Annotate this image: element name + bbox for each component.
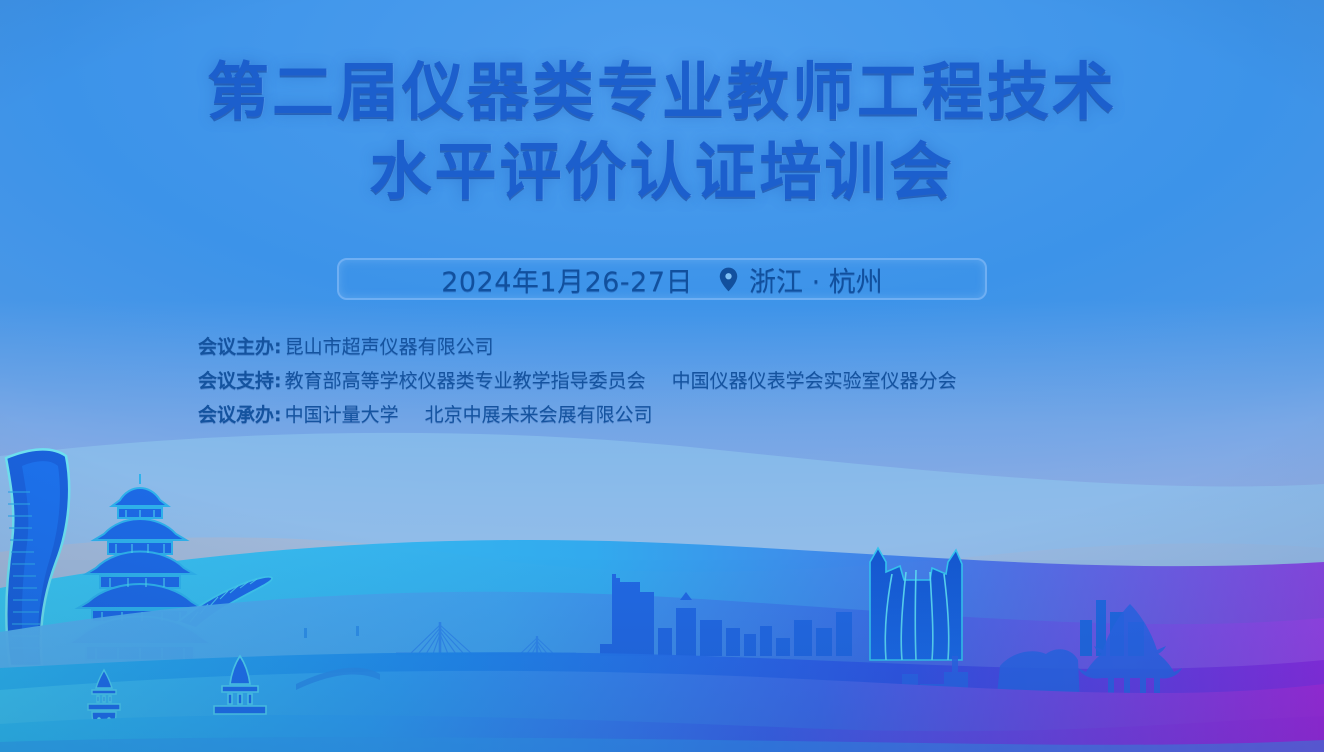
conference-backdrop-photo: 第二届仪器类专业教师工程技术 水平评价认证培训会 2024年1月26-27日 浙… xyxy=(0,0,1324,752)
credit-value: 教育部高等学校仪器类专业教学指导委员会 xyxy=(285,368,646,395)
event-date: 2024年1月26-27日 xyxy=(441,260,693,299)
date-location-pill: 2024年1月26-27日 浙江 · 杭州 xyxy=(337,258,987,300)
credit-label: 会议主办: xyxy=(198,334,282,361)
credit-value: 中国仪器仪表学会实验室仪器分会 xyxy=(672,368,957,395)
credit-value: 北京中展未来会展有限公司 xyxy=(425,402,653,429)
city-skyline-illustration xyxy=(0,422,1324,752)
credit-row-support: 会议支持: 教育部高等学校仪器类专业教学指导委员会 中国仪器仪表学会实验室仪器分… xyxy=(198,368,957,395)
credit-value: 昆山市超声仪器有限公司 xyxy=(285,334,494,361)
credit-label: 会议承办: xyxy=(198,402,282,429)
map-pin-icon xyxy=(719,267,738,292)
credit-value: 中国计量大学 xyxy=(285,402,399,429)
title-line-2: 水平评价认证培训会 xyxy=(0,136,1324,208)
credits-block: 会议主办: 昆山市超声仪器有限公司 会议支持: 教育部高等学校仪器类专业教学指导… xyxy=(198,334,957,429)
poster-title: 第二届仪器类专业教师工程技术 水平评价认证培训会 xyxy=(0,56,1324,208)
credit-row-organizer: 会议承办: 中国计量大学 北京中展未来会展有限公司 xyxy=(198,402,957,429)
event-location: 浙江 · 杭州 xyxy=(719,260,883,299)
title-line-1: 第二届仪器类专业教师工程技术 xyxy=(0,56,1324,128)
location-text: 浙江 · 杭州 xyxy=(749,260,883,299)
credit-row-host: 会议主办: 昆山市超声仪器有限公司 xyxy=(198,334,957,361)
credit-label: 会议支持: xyxy=(198,368,282,395)
